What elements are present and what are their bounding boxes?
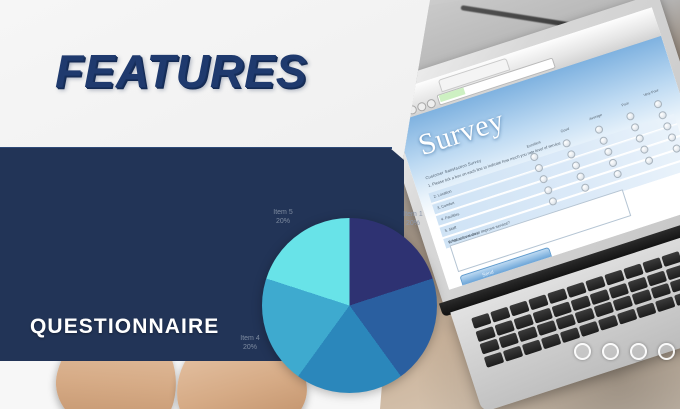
- survey-row-label: 3. Comfort: [437, 201, 455, 210]
- pie-label-item5: Item 5 20%: [262, 208, 304, 227]
- carousel-dot[interactable]: [658, 343, 675, 360]
- survey-column-average: Average: [589, 113, 603, 121]
- pie-chart: [262, 218, 437, 393]
- slide-canvas: Survey Customer Satisfaction Survey 1. P…: [0, 0, 680, 409]
- pie-label-item5-value: 20%: [276, 218, 290, 225]
- carousel-dot[interactable]: [630, 343, 647, 360]
- survey-row-label: 4. Facilities: [440, 212, 459, 222]
- pie-label-item1-value: 20%: [406, 220, 420, 227]
- pie-label-item4: Item 4 20%: [229, 334, 271, 353]
- survey-column-good: Good: [560, 127, 570, 134]
- survey-row-label: 2. Location: [433, 189, 452, 199]
- survey-column-very-poor: Very Poor: [643, 88, 659, 97]
- survey-radio[interactable]: [625, 111, 635, 121]
- survey-radio[interactable]: [653, 99, 663, 109]
- pie-label-item1-name: Item 1: [403, 211, 422, 218]
- browser-stop-icon[interactable]: [426, 98, 437, 109]
- pie-label-item4-value: 20%: [243, 344, 257, 351]
- pie-label-item4-name: Item 4: [240, 335, 259, 342]
- survey-row-label: 5. Staff: [444, 225, 457, 233]
- survey-radio[interactable]: [594, 125, 604, 135]
- carousel-dot[interactable]: [602, 343, 619, 360]
- carousel-dots[interactable]: [574, 343, 675, 360]
- carousel-dot[interactable]: [574, 343, 591, 360]
- survey-page-title: Survey: [414, 104, 508, 164]
- pie-label-item1: Item 1 20%: [392, 210, 434, 229]
- pie-label-item5-name: Item 5: [273, 209, 292, 216]
- page-title: FEATURES: [55, 44, 308, 98]
- survey-column-poor: Poor: [621, 101, 630, 107]
- pie-chart-disc: [262, 218, 437, 393]
